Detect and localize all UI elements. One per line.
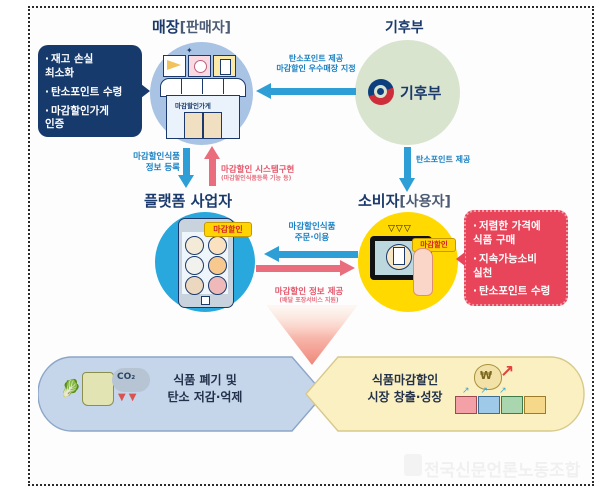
flow-ministry-to-consumer-line (404, 147, 411, 179)
consumer-benefit-1: 저렴한 가격에 식품 구매 (473, 220, 559, 248)
store-callout-pointer (141, 84, 150, 98)
infographic-canvas: 매장[판매자] 기후부 플랫폼 사업자 소비자[사용자] ✦ 마감할인가게 기후… (0, 0, 603, 497)
flow-platform-to-store-label: 마감할인 시스템구현 (마감할인식품등록 기능 등) (221, 154, 294, 193)
flow-store-to-platform-head (178, 175, 194, 188)
store-awning-stripe-1 (181, 79, 182, 94)
vegetable-scraps-icon: 🥬 (60, 376, 82, 402)
growth-arrow-icon: ↗ (500, 362, 514, 382)
flow-platform-to-consumer-head (340, 260, 355, 276)
money-bag-won-label: ₩ (480, 369, 492, 382)
consumer-benefits-callout: 저렴한 가격에 식품 구매 지속가능소비 실천 탄소포인트 수령 (464, 210, 568, 306)
watermark-logo-icon (404, 454, 422, 476)
store-benefit-2: 탄소포인트 수령 (45, 86, 135, 100)
store-door-right (203, 112, 222, 139)
store-door-left (184, 112, 203, 139)
store-sparkle-icon: ✦ (186, 48, 194, 54)
ministry-taegeuk-dot (377, 88, 384, 95)
consumer-tap-marks-icon: ▽▽▽ (388, 224, 412, 234)
store-benefit-1: 재고 손실 최소화 (45, 53, 135, 81)
watermark-text: 전국신문언론노동조합 (424, 456, 580, 481)
market-growth-rays-icon: ↗↗↗ (462, 386, 518, 396)
consumer-hand-icon (413, 248, 433, 296)
market-shop-icon-4 (524, 396, 546, 414)
market-shop-icon-3 (501, 396, 523, 414)
market-shop-icon-1 (455, 396, 477, 414)
flow-store-to-platform-label: 마감할인식품 정보 등록 (114, 152, 180, 173)
market-shop-icon-2 (478, 396, 500, 414)
store-awning-stripe-3 (223, 79, 224, 94)
platform-food-icon-5 (185, 276, 204, 295)
platform-phone-home-button (201, 296, 210, 305)
consumer-title: 소비자[사용자] (358, 190, 451, 211)
flow-platform-to-store-head (204, 146, 220, 159)
flow-platform-to-store-label-main: 마감할인 시스템구현 (221, 165, 294, 175)
flow-platform-to-store-sublabel: (마감할인식품등록 기능 등) (221, 175, 294, 183)
ministry-logo-label: 기후부 (400, 82, 441, 103)
platform-food-icon-4 (208, 256, 227, 275)
store-product-milk-icon (213, 55, 236, 77)
platform-discount-badge: 마감할인 (204, 222, 252, 237)
flow-platform-to-consumer-sublabel: (배달 포장서비스 지원) (261, 297, 357, 305)
platform-food-icon-2 (208, 236, 227, 255)
consumer-product-carton (393, 247, 405, 265)
outcome-carbon-text: 식품 폐기 및 탄소 저감·억제 (140, 372, 270, 406)
flow-platform-to-consumer-label-main: 마감할인 정보 제공 (275, 287, 343, 297)
store-benefits-callout: 재고 손실 최소화 탄소포인트 수령 마감할인가게 인증 (38, 45, 142, 137)
store-product-pizza-icon (163, 55, 186, 77)
flow-store-to-platform-line (183, 148, 190, 176)
platform-title: 플랫폼 사업자 (144, 190, 232, 211)
consumer-benefit-3: 탄소포인트 수령 (473, 285, 559, 299)
flow-consumer-to-platform-label: 마감할인식품 주문·이용 (272, 222, 352, 243)
co2-down-arrows-icon: ▼▼ (118, 392, 139, 403)
platform-food-icon-1 (185, 236, 204, 255)
flow-ministry-to-consumer-label: 탄소포인트 제공 (416, 155, 470, 165)
store-sign-label: 마감할인가게 (175, 100, 211, 110)
store-benefit-3: 마감할인가게 인증 (45, 105, 135, 133)
consumer-benefit-2: 지속가능소비 실천 (473, 253, 559, 281)
flow-consumer-to-platform-line (278, 251, 358, 258)
flow-ministry-to-store-label: 탄소포인트 제공 마감할인 우수매장 지정 (266, 54, 366, 74)
flow-ministry-to-consumer-head (399, 178, 415, 192)
platform-food-icon-6 (208, 276, 227, 295)
platform-food-icon-3 (185, 256, 204, 275)
flow-ministry-to-store-line (270, 88, 356, 95)
flow-ministry-to-store-head (256, 83, 271, 99)
consumer-callout-pointer (456, 252, 465, 266)
store-product-pastry-icon (188, 55, 211, 77)
ministry-title: 기후부 (385, 17, 424, 37)
outcome-market-text: 식품마감할인 시장 창출·성장 (340, 372, 470, 406)
food-waste-bag-icon (82, 372, 114, 406)
co2-cloud-label: CO₂ (117, 372, 135, 382)
flow-platform-to-store-line (209, 158, 216, 186)
store-awning-stripe-2 (202, 79, 203, 94)
flow-platform-to-consumer-line (256, 265, 342, 272)
flow-consumer-to-platform-head (264, 246, 279, 262)
store-title: 매장[판매자] (152, 16, 231, 37)
